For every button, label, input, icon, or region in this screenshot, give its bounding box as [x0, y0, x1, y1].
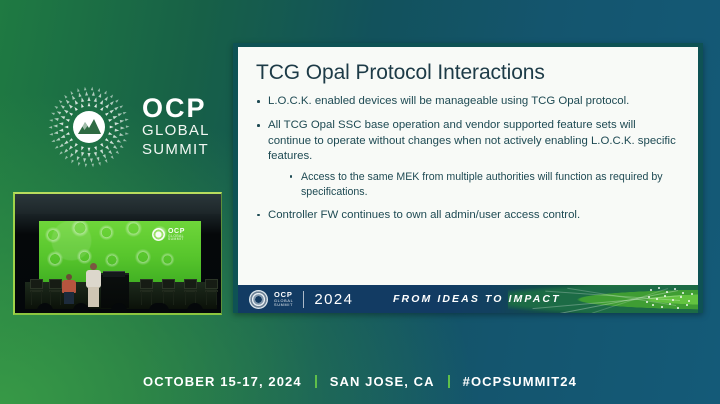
footer-ocp-wordmark: OCP GLOBAL SUMMIT: [274, 291, 293, 307]
presentation-viewport: OCP GLOBAL SUMMIT OCP GLOBAL SUM: [0, 0, 720, 404]
footer-ocp-name: OCP: [274, 291, 293, 299]
footer-ocp-lockup: OCP GLOBAL SUMMIT 2024: [249, 289, 353, 309]
bullet-item: Controller FW continues to own all admin…: [254, 208, 678, 223]
slide-content: TCG Opal Protocol Interactions L.O.C.K. …: [238, 47, 698, 289]
bullet-item: All TCG Opal SSC base operation and vend…: [254, 118, 678, 198]
slide-bullet-list: L.O.C.K. enabled devices will be managea…: [254, 94, 678, 223]
audience-silhouettes: [15, 299, 221, 313]
footer-ocp-badge-icon: [249, 290, 268, 309]
footer-year: 2024: [314, 291, 353, 308]
banner-separator: [315, 375, 317, 388]
sub-bullet-text: Access to the same MEK from multiple aut…: [301, 171, 663, 197]
podium-laptop: [103, 271, 125, 277]
backdrop-logo-icon: [152, 228, 165, 241]
brand-summit-text: SUMMIT: [142, 141, 210, 159]
banner-separator: [448, 375, 450, 388]
footer-ocp-sub2: SUMMIT: [274, 303, 293, 307]
sub-bullet-list: Access to the same MEK from multiple aut…: [268, 170, 678, 199]
brand-ocp-text: OCP: [142, 95, 210, 122]
bullet-text: All TCG Opal SSC base operation and vend…: [268, 119, 676, 162]
video-ceiling: [15, 194, 221, 214]
bullet-text: L.O.C.K. enabled devices will be managea…: [268, 95, 629, 107]
footer-divider: [303, 291, 304, 308]
event-dates: OCTOBER 15-17, 2024: [143, 374, 302, 389]
brand-global-text: GLOBAL: [142, 122, 210, 140]
sub-bullet-item: Access to the same MEK from multiple aut…: [287, 170, 678, 199]
speaker-video-thumbnail[interactable]: OCP GLOBAL SUMMIT: [13, 192, 222, 315]
footer-particle-dots: [644, 285, 696, 313]
bullet-text: Controller FW continues to own all admin…: [268, 209, 580, 221]
backdrop-logo-text: OCP GLOBAL SUMMIT: [168, 228, 185, 242]
event-info-banner: OCTOBER 15-17, 2024 SAN JOSE, CA #OCPSUM…: [0, 358, 720, 404]
footer-tagline: FROM IDEAS TO IMPACT: [393, 293, 561, 305]
slide-title: TCG Opal Protocol Interactions: [256, 61, 678, 84]
slide-footer-bar: OCP GLOBAL SUMMIT 2024 FROM IDEAS TO IMP…: [238, 285, 698, 313]
bullet-item: L.O.C.K. enabled devices will be managea…: [254, 94, 678, 109]
backdrop-ocp-logo: OCP GLOBAL SUMMIT: [152, 227, 196, 242]
backdrop-logo-sub2: SUMMIT: [168, 238, 185, 241]
event-location: SAN JOSE, CA: [330, 374, 435, 389]
event-hashtag: #OCPSUMMIT24: [463, 374, 577, 389]
brand-wordmark: OCP GLOBAL SUMMIT: [142, 95, 210, 159]
ocp-sunburst-mountain-icon: [48, 86, 130, 168]
ocp-global-summit-logo: OCP GLOBAL SUMMIT: [48, 84, 228, 170]
presentation-slide[interactable]: TCG Opal Protocol Interactions L.O.C.K. …: [233, 43, 703, 313]
